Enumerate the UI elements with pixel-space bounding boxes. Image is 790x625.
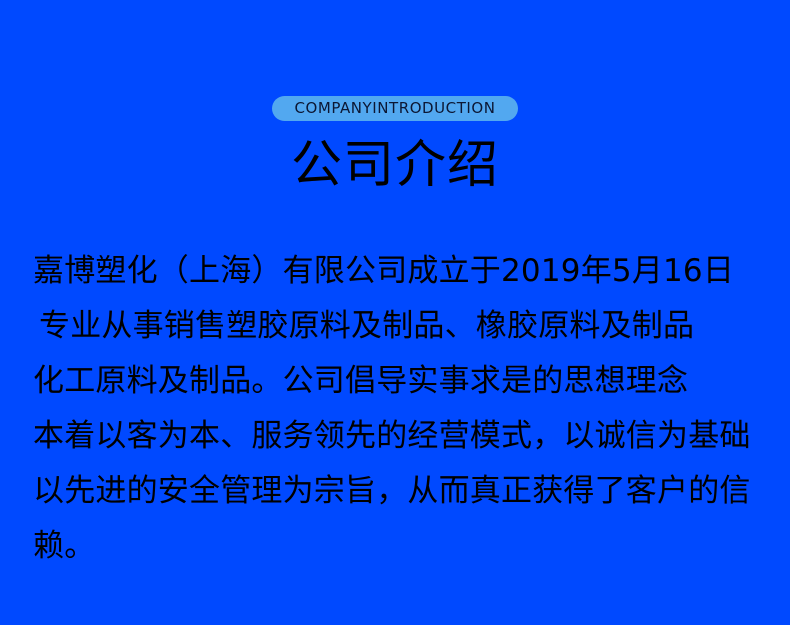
body-line: 化工原料及制品。公司倡导实事求是的思想理念 xyxy=(33,354,763,409)
body-line: 专业从事销售塑胶原料及制品、橡胶原料及制品 xyxy=(33,299,763,354)
introduction-paragraph: 嘉博塑化（上海）有限公司成立于2019年5月16日 专业从事销售塑胶原料及制品、… xyxy=(33,244,763,574)
body-line: 嘉博塑化（上海）有限公司成立于2019年5月16日 xyxy=(33,244,763,299)
body-line: 以先进的安全管理为宗旨，从而真正获得了客户的信 xyxy=(33,464,763,519)
section-eyebrow-badge: COMPANYINTRODUCTION xyxy=(272,96,517,121)
page-title: 公司介绍 xyxy=(0,137,790,195)
body-line: 本着以客为本、服务领先的经营模式，以诚信为基础 xyxy=(33,409,763,464)
header-block: COMPANYINTRODUCTION xyxy=(0,0,790,121)
body-line: 赖。 xyxy=(33,519,763,574)
company-introduction-banner: COMPANYINTRODUCTION 公司介绍 嘉博塑化（上海）有限公司成立于… xyxy=(0,0,790,625)
